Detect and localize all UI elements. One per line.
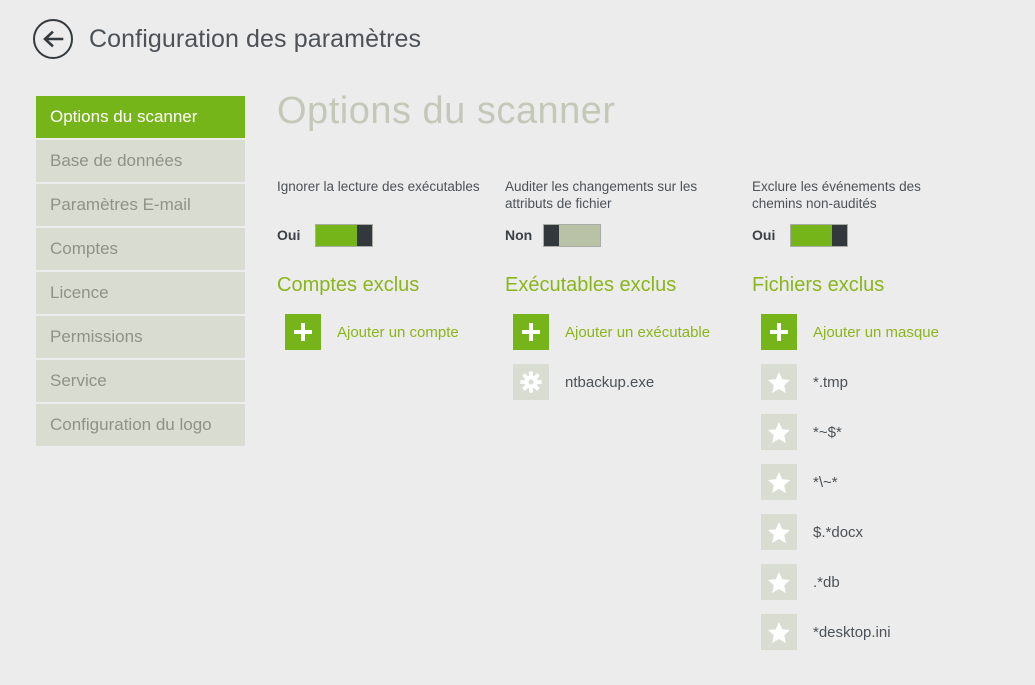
back-arrow-icon: [42, 30, 64, 48]
list-item[interactable]: ntbackup.exe: [513, 357, 654, 407]
settings-column-2: Exclure les événements des chemins non-a…: [752, 178, 1035, 657]
sidebar-item-label: Service: [50, 371, 107, 391]
toggle-switch-row[interactable]: Oui: [752, 222, 848, 248]
switch-track: [791, 225, 832, 246]
gear-icon: [513, 364, 549, 400]
star-icon: [761, 564, 797, 600]
toggle-switch[interactable]: [543, 224, 601, 247]
section-heading: Exécutables exclus: [505, 274, 752, 297]
list-item[interactable]: *.tmp: [761, 357, 848, 407]
sidebar-item-1[interactable]: Base de données: [36, 140, 245, 182]
toggle-switch[interactable]: [315, 224, 373, 247]
page-title-header: Configuration des paramètres: [89, 25, 421, 54]
toggle-switch[interactable]: [790, 224, 848, 247]
list-item[interactable]: *desktop.ini: [761, 607, 891, 657]
toggle-label: Ignorer la lecture des exécutables: [277, 178, 492, 216]
list-item-label: ntbackup.exe: [565, 374, 654, 391]
add-item-button[interactable]: Ajouter un compte: [285, 307, 459, 357]
list-item[interactable]: *~$*: [761, 407, 842, 457]
plus-icon: [761, 314, 797, 350]
page-header: Configuration des paramètres: [0, 0, 1035, 78]
switch-thumb[interactable]: [544, 225, 559, 246]
list-item-label: .*db: [813, 574, 840, 591]
list-item-label: *~$*: [813, 424, 842, 441]
sidebar-item-label: Base de données: [50, 151, 182, 171]
list-item[interactable]: .*db: [761, 557, 840, 607]
sidebar-item-5[interactable]: Permissions: [36, 316, 245, 358]
star-icon: [761, 614, 797, 650]
settings-column-1: Auditer les changements sur les attribut…: [505, 178, 752, 657]
sidebar-item-label: Comptes: [50, 239, 118, 259]
plus-icon: [513, 314, 549, 350]
sidebar-item-7[interactable]: Configuration du logo: [36, 404, 245, 446]
switch-thumb[interactable]: [357, 225, 372, 246]
star-icon: [761, 414, 797, 450]
main-content: Options du scanner Ignorer la lecture de…: [277, 92, 1035, 685]
list-item-label: *.tmp: [813, 374, 848, 391]
section-heading: Comptes exclus: [277, 274, 505, 297]
toggle-state-label: Oui: [277, 227, 305, 243]
sidebar-item-label: Paramètres E-mail: [50, 195, 191, 215]
sidebar-item-label: Options du scanner: [50, 107, 197, 127]
list-item[interactable]: $.*docx: [761, 507, 863, 557]
switch-thumb[interactable]: [832, 225, 847, 246]
star-icon: [761, 514, 797, 550]
toggle-label: Auditer les changements sur les attribut…: [505, 178, 720, 216]
toggle-label: Exclure les événements des chemins non-a…: [752, 178, 967, 216]
switch-track: [559, 225, 600, 246]
toggle-switch-row[interactable]: Non: [505, 222, 601, 248]
sidebar-item-label: Permissions: [50, 327, 143, 347]
page-title: Options du scanner: [277, 92, 1035, 130]
sidebar-item-label: Licence: [50, 283, 109, 303]
sidebar-item-6[interactable]: Service: [36, 360, 245, 402]
sidebar-item-label: Configuration du logo: [50, 415, 212, 435]
add-item-label: Ajouter un masque: [813, 324, 939, 341]
sidebar-item-4[interactable]: Licence: [36, 272, 245, 314]
sidebar-item-0[interactable]: Options du scanner: [36, 96, 245, 138]
toggle-state-label: Non: [505, 227, 533, 243]
add-item-label: Ajouter un compte: [337, 324, 459, 341]
settings-columns: Ignorer la lecture des exécutablesOuiCom…: [277, 178, 1035, 657]
add-item-label: Ajouter un exécutable: [565, 324, 710, 341]
add-item-button[interactable]: Ajouter un masque: [761, 307, 939, 357]
sidebar-nav: Options du scannerBase de donnéesParamèt…: [36, 96, 245, 448]
back-button[interactable]: [33, 19, 73, 59]
toggle-state-label: Oui: [752, 227, 780, 243]
list-item-label: *desktop.ini: [813, 624, 891, 641]
toggle-switch-row[interactable]: Oui: [277, 222, 373, 248]
switch-track: [316, 225, 357, 246]
star-icon: [761, 464, 797, 500]
add-item-button[interactable]: Ajouter un exécutable: [513, 307, 710, 357]
list-item-label: $.*docx: [813, 524, 863, 541]
list-item[interactable]: *\~*: [761, 457, 838, 507]
plus-icon: [285, 314, 321, 350]
list-item-label: *\~*: [813, 474, 838, 491]
section-heading: Fichiers exclus: [752, 274, 1035, 297]
sidebar-item-3[interactable]: Comptes: [36, 228, 245, 270]
settings-column-0: Ignorer la lecture des exécutablesOuiCom…: [277, 178, 505, 657]
sidebar-item-2[interactable]: Paramètres E-mail: [36, 184, 245, 226]
star-icon: [761, 364, 797, 400]
